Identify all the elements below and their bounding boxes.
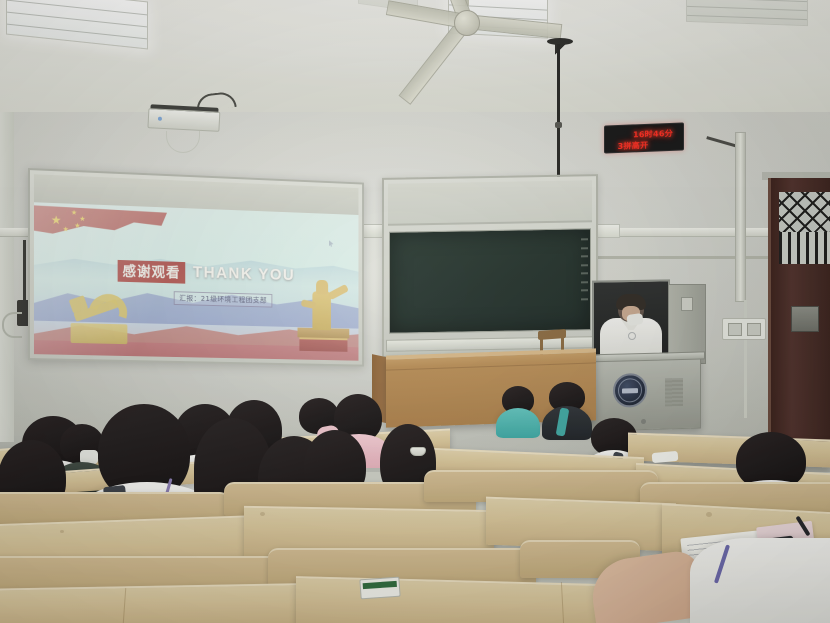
led-line-message: 3拼高开 [605,139,683,153]
mouse-cursor-icon [329,240,334,247]
hanging-cable [2,312,22,338]
desk-surface-front [296,576,596,623]
podium-vent [665,378,683,406]
classroom-photo: 16时46分 3拼高开 ★ ★ ★ ★ ★ [0,0,830,623]
id-card-tag [359,577,400,600]
slide-subtitle: 汇报：21级环境工程团支部 [174,291,273,307]
desk-front-edge [424,470,658,502]
chinese-flag-icon [34,205,167,249]
golden-statue-icon [297,273,349,351]
flag-star-icon: ★ [51,213,62,225]
microphone-rod [557,44,560,196]
wall-outlet[interactable] [722,318,766,340]
door-window [779,192,830,264]
student-figure [544,382,590,438]
slide-title: 感谢观看 THANK YOU [118,260,295,287]
door-plate [791,306,819,332]
chalkboard-upper-panel [388,180,592,226]
school-crest-icon [613,373,647,408]
student-figure [498,386,538,432]
wall-mount-bracket [735,132,746,302]
light-panel-icon [686,0,808,26]
slide-title-chinese: 感谢观看 [118,260,186,284]
left-wall-column [0,112,14,442]
presentation-slide: ★ ★ ★ ★ ★ 感谢观看 THANK YOU [34,202,358,360]
chalkboard-surface [389,228,591,334]
classroom-door[interactable] [768,178,830,460]
flag-star-icon: ★ [74,223,80,230]
flag-star-icon: ★ [63,226,69,233]
chalkboard-track-dots [581,238,588,300]
projector-icon [147,102,220,134]
desk-mark [706,512,712,517]
desk-mark [60,530,64,533]
flag-star-icon: ★ [71,210,77,217]
paper-cup-icon [410,447,426,456]
led-clock-display: 16时46分 3拼高开 [604,122,684,153]
switch-icon[interactable] [681,297,693,311]
desk-surface-front [0,583,310,623]
desk-mark [260,512,265,516]
hammer-and-sickle-icon [64,291,136,344]
student-figure-foreground [690,524,830,623]
slide-title-english: THANK YOU [193,264,295,285]
projection-screen: ★ ★ ★ ★ ★ 感谢观看 THANK YOU [28,168,364,367]
microphone-mount-icon [547,38,573,45]
microphone-joint [555,122,562,128]
door-window-bars [779,232,830,264]
ceiling-fan-icon [402,0,602,54]
